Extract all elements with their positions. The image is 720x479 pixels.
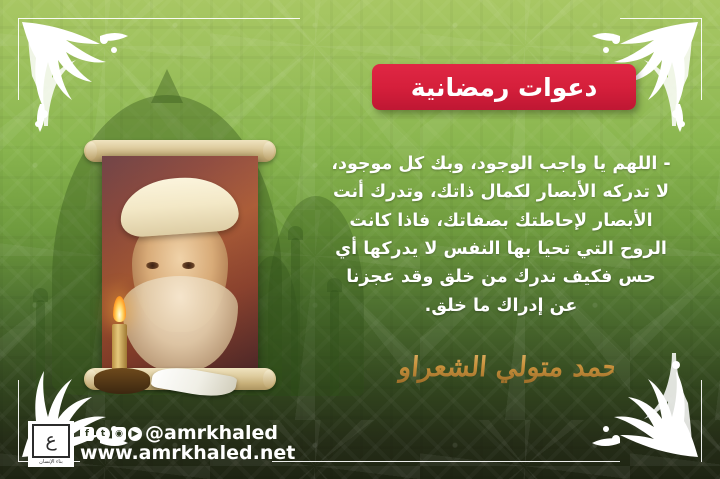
youtube-icon[interactable]: ▶ xyxy=(128,427,142,441)
minaret-icon xyxy=(291,238,300,396)
instagram-icon[interactable]: ◉ xyxy=(112,427,126,441)
portrait-eye xyxy=(182,262,195,269)
amr-khaled-logo: ع بناء الإنسان xyxy=(28,421,74,467)
portrait-turban xyxy=(118,174,240,238)
title-banner: دعوات رمضانية xyxy=(372,64,636,110)
floral-corner-ornament-icon xyxy=(14,14,134,134)
calligraphic-signature: محمد متولي الشعراوي xyxy=(396,344,616,390)
twitter-icon[interactable]: t xyxy=(96,427,110,441)
website-url[interactable]: www.amrkhaled.net xyxy=(80,444,295,464)
footer-branding: ع بناء الإنسان f t ◉ ▶ @amrkhaled www.am… xyxy=(28,420,295,468)
portrait-eye xyxy=(146,262,159,269)
social-handle[interactable]: @amrkhaled xyxy=(145,424,278,444)
facebook-icon[interactable]: f xyxy=(80,427,94,441)
candle-icon xyxy=(96,296,156,402)
candle-flame-icon xyxy=(113,296,126,322)
logo-subtitle: بناء الإنسان xyxy=(39,459,63,465)
supplication-text: - اللهم يا واجب الوجود، وبك كل موجود، لا… xyxy=(330,150,672,320)
page-title: دعوات رمضانية xyxy=(411,73,598,102)
social-handle-row: f t ◉ ▶ @amrkhaled xyxy=(80,424,295,444)
logo-mark: ع xyxy=(32,424,70,458)
candle-holder-base xyxy=(94,368,150,394)
footer-text-block: f t ◉ ▶ @amrkhaled www.amrkhaled.net xyxy=(80,424,295,464)
candle-body xyxy=(112,324,127,372)
frame-border-line xyxy=(272,461,620,462)
ramadan-supplication-poster: دعوات رمضانية - اللهم يا واجب الوجود، وب… xyxy=(0,0,720,479)
